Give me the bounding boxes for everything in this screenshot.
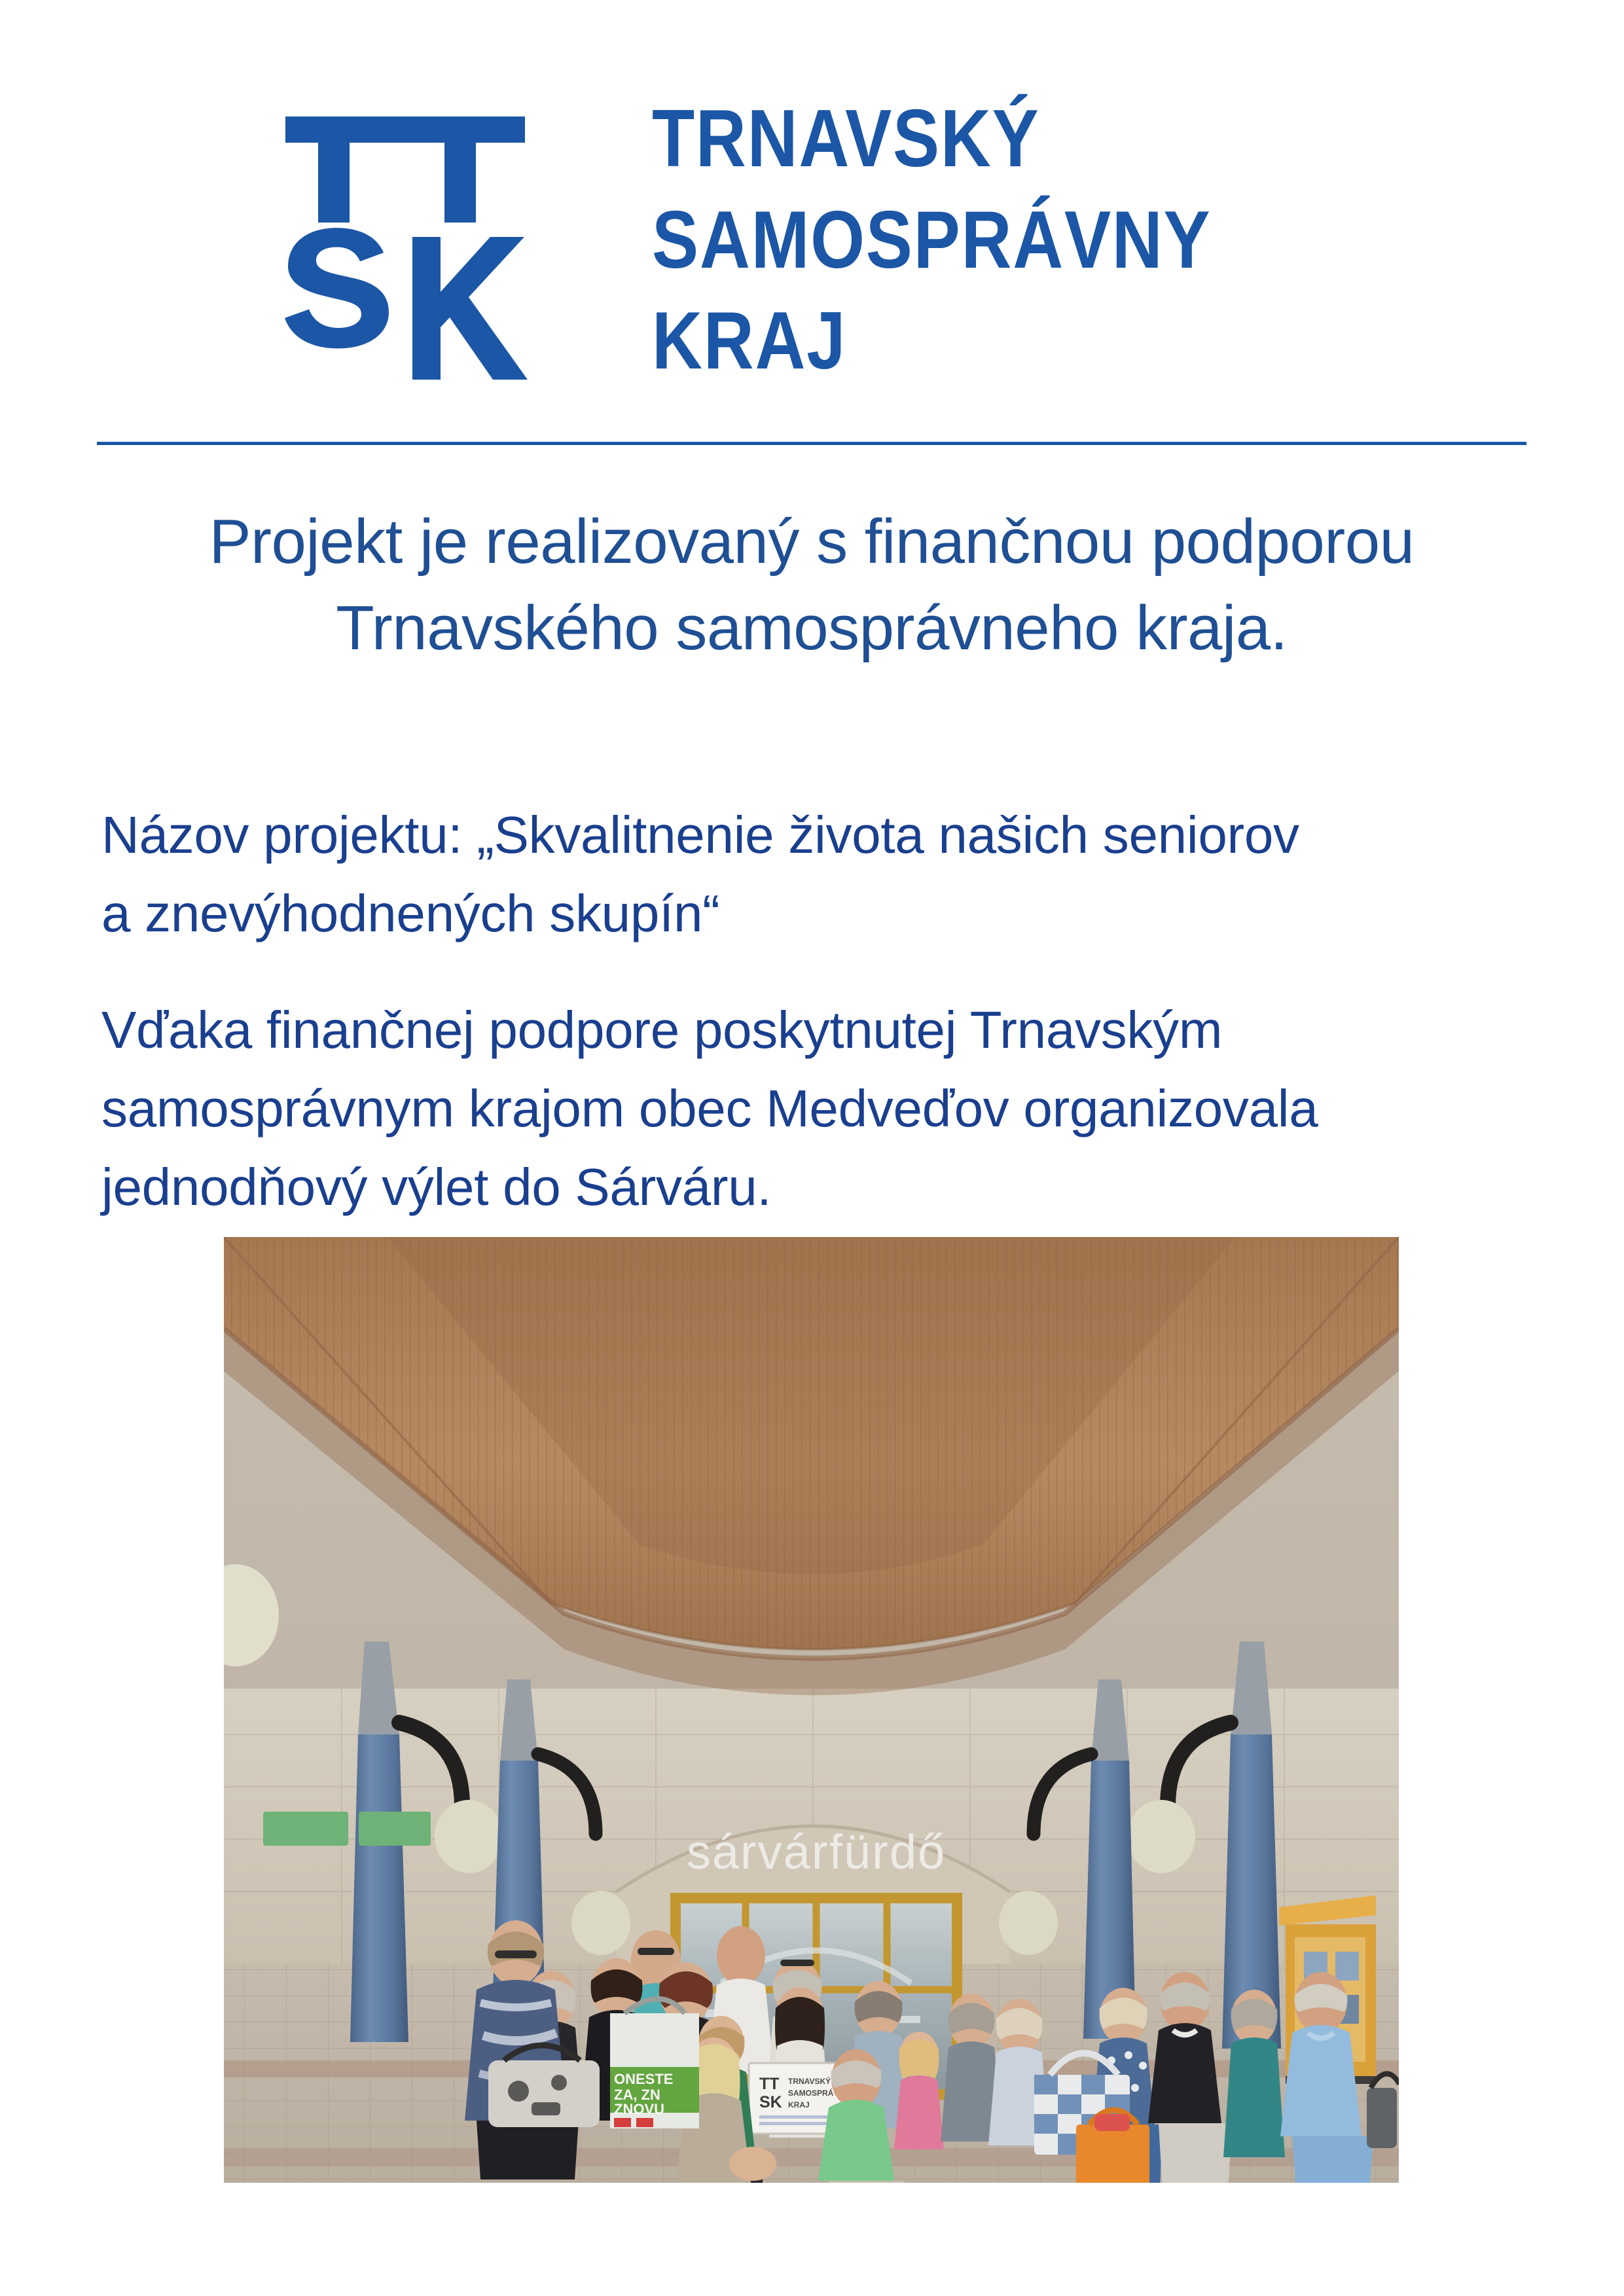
ttsk-logo-mark-icon — [264, 98, 546, 380]
ttsk-wordmark: TRNAVSKÝ SAMOSPRÁVNY KRAJ — [652, 101, 1302, 380]
project-description-line-1: Vďaka finančnej podpore poskytnutej Trna… — [101, 991, 1470, 1069]
wordmark-line-3: KRAJ — [652, 303, 1211, 380]
project-name-line-1: Názov projektu: „Skvalitnenie života naš… — [101, 796, 1470, 874]
wordmark-line-2: SAMOSPRÁVNY — [652, 202, 1211, 279]
document-page: TRNAVSKÝ SAMOSPRÁVNY KRAJ Projekt je rea… — [0, 0, 1624, 2296]
paragraph-project-name: Názov projektu: „Skvalitnenie života naš… — [101, 796, 1470, 953]
ttsk-logo: TRNAVSKÝ SAMOSPRÁVNY KRAJ — [264, 98, 1302, 380]
heading-line-2: Trnavského samosprávneho kraja. — [98, 585, 1525, 672]
page-heading: Projekt je realizovaný s finančnou podpo… — [98, 499, 1525, 672]
wordmark-line-1: TRNAVSKÝ — [652, 101, 1211, 177]
project-name-line-2: a znevýhodnených skupín“ — [101, 874, 1470, 953]
heading-line-1: Projekt je realizovaný s finančnou podpo… — [98, 499, 1525, 585]
project-description-line-3: jednodňový výlet do Sárváru. — [101, 1148, 1470, 1227]
paragraph-project-description: Vďaka finančnej podpore poskytnutej Trna… — [101, 991, 1470, 1227]
project-description-line-2: samosprávnym krajom obec Medveďov organi… — [101, 1069, 1470, 1148]
body-copy: Názov projektu: „Skvalitnenie života naš… — [101, 796, 1470, 1227]
horizontal-divider — [97, 442, 1526, 445]
group-photo: sárvárfürdő — [224, 1237, 1399, 2183]
